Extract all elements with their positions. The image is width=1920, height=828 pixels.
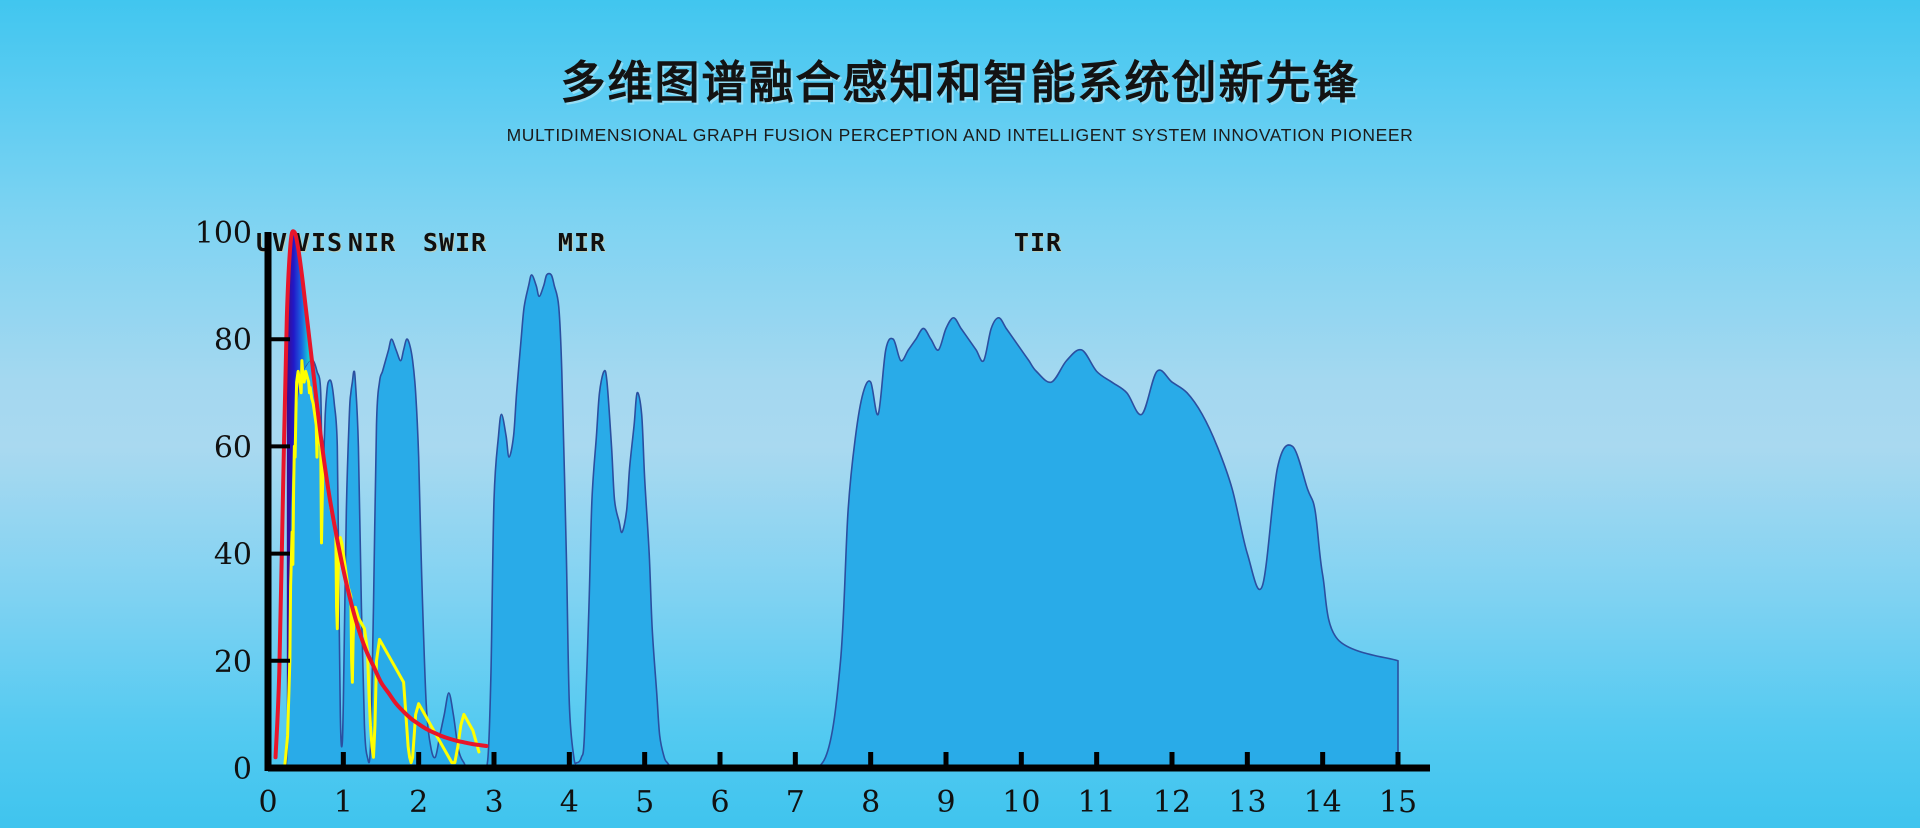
spectrum-chart-svg: 0123456789101112131415 020406080100 [0, 0, 1920, 828]
x-tick-label: 10 [1002, 785, 1040, 820]
y-tick-label: 100 [195, 216, 252, 251]
x-tick-label: 12 [1153, 785, 1191, 820]
x-axis-tick-labels: 0123456789101112131415 [258, 785, 1417, 820]
atmospheric-transmission-area [268, 274, 1398, 769]
y-tick-label: 60 [214, 430, 252, 465]
x-tick-label: 9 [936, 785, 955, 820]
x-tick-label: 6 [710, 785, 729, 820]
spectrum-chart: 0123456789101112131415 020406080100 [0, 0, 1920, 828]
x-tick-label: 3 [484, 785, 503, 820]
x-tick-label: 14 [1304, 785, 1342, 820]
x-tick-label: 5 [635, 785, 654, 820]
x-tick-label: 4 [560, 785, 579, 820]
x-tick-label: 7 [786, 785, 805, 820]
y-tick-label: 0 [233, 752, 252, 787]
transmission-area-path [268, 274, 1398, 769]
x-tick-label: 2 [409, 785, 428, 820]
y-axis-tick-labels: 020406080100 [195, 216, 252, 787]
x-tick-label: 1 [334, 785, 353, 820]
x-tick-label: 8 [861, 785, 880, 820]
y-tick-label: 40 [214, 538, 252, 573]
x-tick-label: 0 [258, 785, 277, 820]
y-tick-label: 80 [214, 323, 252, 358]
y-tick-label: 20 [214, 645, 252, 680]
x-tick-label: 11 [1078, 785, 1116, 820]
x-tick-label: 15 [1379, 785, 1417, 820]
x-tick-label: 13 [1228, 785, 1266, 820]
